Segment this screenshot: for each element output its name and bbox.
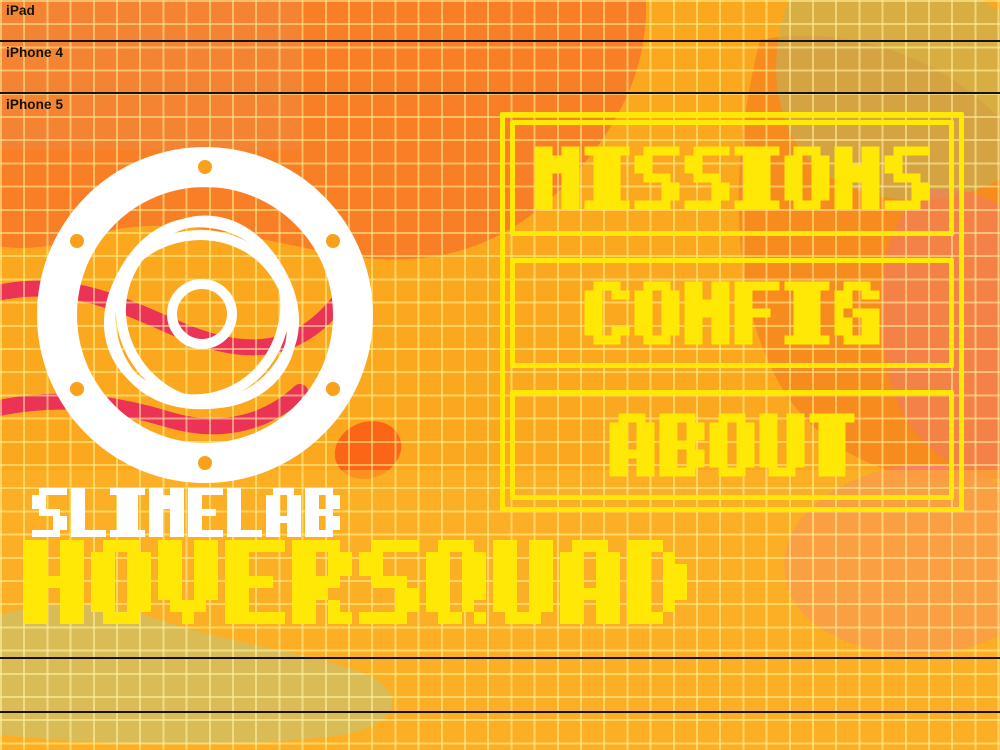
pixel-glyph [110, 488, 145, 537]
device-divider-lower-2 [0, 711, 1000, 713]
logo-nucleus [172, 284, 232, 344]
pixel-glyph [225, 540, 285, 624]
pixel-glyph [635, 282, 680, 345]
pixel-glyph [660, 414, 705, 477]
pixel-glyph [760, 414, 805, 477]
device-divider-iphone4 [0, 92, 1000, 94]
device-label-iphone4: iPhone 4 [6, 46, 63, 60]
pixel-glyph [735, 147, 780, 210]
device-divider-lower-1 [0, 657, 1000, 659]
pixel-glyph [227, 488, 262, 537]
pixel-glyph [493, 540, 553, 624]
pixel-glyph [835, 147, 880, 210]
pixel-glyph [885, 147, 930, 210]
pixel-glyph [710, 414, 755, 477]
menu-item-about-label [610, 414, 855, 477]
main-menu [500, 112, 964, 512]
game-title [24, 540, 687, 624]
menu-item-config-label [585, 282, 880, 345]
pixel-glyph [535, 147, 580, 210]
pixel-glyph [266, 488, 301, 537]
pixel-glyph [585, 282, 630, 345]
pixel-glyph [627, 540, 687, 624]
pixel-glyph [685, 147, 730, 210]
pixel-glyph [560, 540, 620, 624]
pixel-glyph [158, 540, 218, 624]
pixel-glyph [71, 488, 106, 537]
pixel-glyph [359, 540, 419, 624]
pixel-glyph [785, 282, 830, 345]
device-divider-ipad [0, 40, 1000, 42]
pixel-glyph [24, 540, 84, 624]
pixel-glyph [735, 282, 780, 345]
app-screen: iPad iPhone 4 iPhone 5 [0, 0, 1000, 750]
studio-wordmark [32, 488, 340, 537]
pixel-glyph [149, 488, 184, 537]
logo-orbitals [84, 190, 331, 438]
pixel-glyph [292, 540, 352, 624]
pixel-glyph [305, 488, 340, 537]
pixel-glyph [810, 414, 855, 477]
device-label-iphone5: iPhone 5 [6, 98, 63, 112]
logo-ring [57, 167, 353, 463]
pixel-glyph [91, 540, 151, 624]
menu-item-about[interactable] [510, 390, 954, 500]
pixel-glyph [585, 147, 630, 210]
menu-item-missions-label [535, 147, 930, 210]
pixel-glyph [835, 282, 880, 345]
pixel-glyph [635, 147, 680, 210]
menu-item-config[interactable] [510, 258, 954, 368]
pixel-glyph [426, 540, 486, 624]
pixel-glyph [685, 282, 730, 345]
pixel-glyph [32, 488, 67, 537]
atom-logo [30, 140, 380, 490]
pixel-glyph [610, 414, 655, 477]
device-label-ipad: iPad [6, 4, 35, 18]
pixel-glyph [188, 488, 223, 537]
menu-item-missions[interactable] [510, 120, 954, 236]
pixel-glyph [785, 147, 830, 210]
